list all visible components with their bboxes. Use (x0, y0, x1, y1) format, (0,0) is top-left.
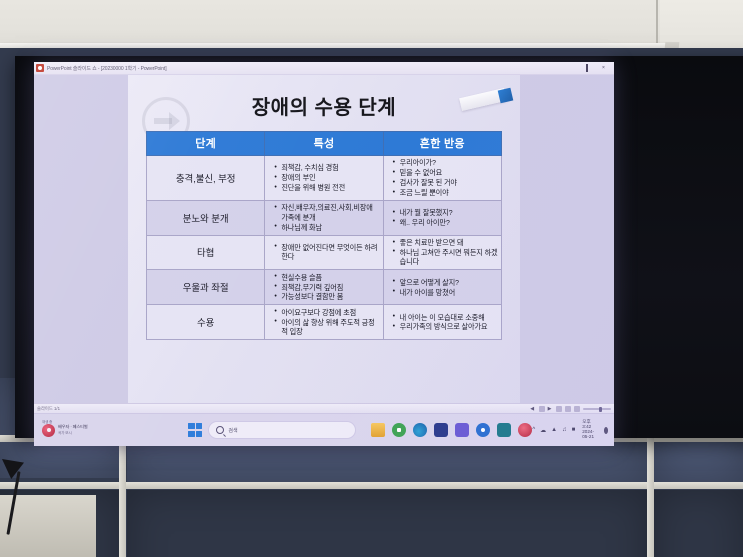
reactions-cell: 우리아이가? 믿을 수 없어요 검사가 잘못 된 거야 조금 느릴 뿐이야 (383, 156, 501, 201)
column-header-traits: 특성 (265, 132, 383, 156)
window-title: PowerPoint 슬라이드 쇼 - [20230000 1학기 - Powe… (47, 65, 167, 72)
windows-taskbar: 재생 중 배우자 · 페스티벌 곡가 모시 검색 (34, 413, 614, 446)
table-header-row: 단계 특성 흔한 반응 (147, 132, 502, 156)
window-titlebar[interactable]: PowerPoint 슬라이드 쇼 - [20230000 1학기 - Powe… (34, 62, 614, 75)
media-title: 배우자 · 페스티벌 (58, 424, 88, 430)
list-item: 내가 아이를 망쳤어 (395, 288, 498, 298)
table-row: 우울과 좌절 현실수용 슬픔 죄책감,무기력 깊어짐 가능성보다 결함만 봄 (147, 270, 502, 305)
list-item: 왜.. 우리 아이만? (395, 218, 498, 228)
stage-label: 수용 (147, 305, 265, 340)
stages-table: 단계 특성 흔한 반응 충격,불신, 부정 죄책감, 수치심 경험 (146, 131, 502, 340)
list-item: 좋은 치료만 받으면 돼 (395, 238, 498, 248)
album-art-icon (42, 424, 55, 437)
list-item: 가능성보다 결함만 봄 (276, 292, 379, 302)
search-icon (216, 426, 224, 434)
column-header-reaction: 흔한 반응 (383, 132, 501, 156)
list-item: 앞으로 어떻게 살지? (395, 278, 498, 288)
slide[interactable]: 장애의 수용 단계 단계 특성 흔한 반응 충격,불신, 부정 (128, 75, 520, 403)
cloud-icon[interactable]: ☁ (540, 427, 546, 434)
table-row: 충격,불신, 부정 죄책감, 수치심 경험 장애의 부인 진단을 위해 병원 전… (147, 156, 502, 201)
powerpoint-icon (36, 64, 44, 72)
powerpoint-window: PowerPoint 슬라이드 쇼 - [20230000 1학기 - Powe… (34, 62, 614, 414)
list-item: 장애의 부인 (276, 173, 379, 183)
list-item: 장애만 없어진다면 무엇이든 하려 한다 (276, 243, 379, 262)
traits-cell: 장애만 없어진다면 무엇이든 하려 한다 (265, 235, 383, 270)
statusbar-right-controls: ◀ ▶ (530, 406, 611, 412)
traits-cell: 현실수용 슬픔 죄책감,무기력 깊어짐 가능성보다 결함만 봄 (265, 270, 383, 305)
list-item: 아이요구보다 강점에 초점 (276, 308, 379, 318)
reactions-cell: 내가 뭘 잘못했지? 왜.. 우리 아이만? (383, 200, 501, 235)
taskbar-app-icons (371, 423, 532, 437)
stage-label: 충격,불신, 부정 (147, 156, 265, 201)
list-item: 아이의 삶 향상 위해 주도적 긍정적 입장 (276, 318, 379, 337)
list-item: 죄책감,무기력 깊어짐 (276, 283, 379, 293)
battery-icon[interactable]: ■ (572, 427, 576, 433)
reading-view-button[interactable] (565, 406, 571, 412)
slide-canvas-area: 장애의 수용 단계 단계 특성 흔한 반응 충격,불신, 부정 (34, 75, 614, 403)
screen-wire (656, 0, 658, 46)
chevron-up-icon[interactable]: ^ (532, 427, 535, 433)
wall-panel (654, 490, 743, 557)
traits-cell: 아이요구보다 강점에 초점 아이의 삶 향상 위해 주도적 긍정적 입장 (265, 305, 383, 340)
slideshow-view-button[interactable] (574, 406, 580, 412)
reactions-cell: 내 아이는 이 모습대로 소중해 우리가족의 방식으로 살아가요 (383, 305, 501, 340)
list-item: 죄책감, 수치심 경험 (276, 163, 379, 173)
search-placeholder: 검색 (228, 427, 237, 434)
slide-counter: 슬라이드 1/1 (37, 406, 60, 412)
stage-label: 우울과 좌절 (147, 270, 265, 305)
list-item: 현실수용 슬픔 (276, 273, 379, 283)
zoom-slider[interactable] (583, 408, 611, 410)
wall-panel (127, 441, 647, 483)
slide-title: 장애의 수용 단계 (128, 75, 520, 120)
system-tray: ^ ☁ ▲ ♫ ■ 오후 3:42 2024-05-21 (532, 420, 614, 439)
column-header-stage: 단계 (147, 132, 265, 156)
network-icon[interactable]: ▲ (551, 427, 557, 433)
ceiling (0, 0, 743, 48)
normal-view-button[interactable] (539, 406, 545, 412)
powerpoint-icon[interactable] (455, 423, 469, 437)
traits-cell: 자신,배우자,의료진,사회,비장애 가족에 분개 하나님께 화남 (265, 200, 383, 235)
media-subtitle: 곡가 모시 (58, 431, 88, 436)
maximize-button[interactable] (582, 64, 591, 72)
media-player-widget[interactable]: 재생 중 배우자 · 페스티벌 곡가 모시 (34, 424, 178, 437)
prev-slide-button[interactable]: ◀ (530, 406, 535, 412)
list-item: 우리가족의 방식으로 살아가요 (395, 322, 498, 332)
music-icon[interactable] (518, 423, 532, 437)
list-item: 하나님께 화남 (276, 223, 379, 233)
clock-date: 2024-05-21 (582, 430, 596, 440)
close-button[interactable]: × (599, 64, 608, 72)
list-item: 하나님 고쳐만 주시면 뭐든지 하겠습니다 (395, 248, 498, 267)
list-item: 내 아이는 이 모습대로 소중해 (395, 313, 498, 323)
table-row: 분노와 분개 자신,배우자,의료진,사회,비장애 가족에 분개 하나님께 화남 (147, 200, 502, 235)
stage-label: 타협 (147, 235, 265, 270)
table-row: 수용 아이요구보다 강점에 초점 아이의 삶 향상 위해 주도적 긍정적 입장 (147, 305, 502, 340)
list-item: 조금 느릴 뿐이야 (395, 188, 498, 198)
reactions-cell: 좋은 치료만 받으면 돼 하나님 고쳐만 주시면 뭐든지 하겠습니다 (383, 235, 501, 270)
chrome-icon[interactable] (392, 423, 406, 437)
classroom-photo-scene: PowerPoint 슬라이드 쇼 - [20230000 1학기 - Powe… (0, 0, 743, 557)
edge-icon[interactable] (413, 423, 427, 437)
list-item: 우리아이가? (395, 158, 498, 168)
reactions-cell: 앞으로 어떻게 살지? 내가 아이를 망쳤어 (383, 270, 501, 305)
list-item: 진단을 위해 병원 전전 (276, 183, 379, 193)
wall-frame (0, 482, 743, 489)
next-slide-button[interactable]: ▶ (548, 406, 553, 412)
teams-icon[interactable] (497, 423, 511, 437)
stage-label: 분노와 분개 (147, 200, 265, 235)
list-item: 내가 뭘 잘못했지? (395, 208, 498, 218)
media-caption: 재생 중 (42, 419, 52, 424)
hancom-icon[interactable] (434, 423, 448, 437)
volume-icon[interactable]: ♫ (562, 427, 567, 433)
slide-sorter-view-button[interactable] (556, 406, 562, 412)
table-row: 타협 장애만 없어진다면 무엇이든 하려 한다 좋은 치료만 받으면 돼 (147, 235, 502, 270)
projected-desktop: PowerPoint 슬라이드 쇼 - [20230000 1학기 - Powe… (34, 62, 614, 446)
clock[interactable]: 오후 3:42 2024-05-21 (580, 420, 596, 439)
window-controls: × (565, 64, 612, 72)
notifications-icon[interactable] (604, 427, 608, 434)
wall-panel (127, 490, 647, 557)
list-item: 자신,배우자,의료진,사회,비장애 가족에 분개 (276, 203, 379, 222)
target-app-icon[interactable] (476, 423, 490, 437)
taskbar-center: 검색 (188, 421, 532, 439)
file-explorer-icon[interactable] (371, 423, 385, 437)
list-item: 믿을 수 없어요 (395, 168, 498, 178)
start-button[interactable] (188, 423, 202, 437)
search-input[interactable]: 검색 (208, 421, 356, 439)
traits-cell: 죄책감, 수치심 경험 장애의 부인 진단을 위해 병원 전전 (265, 156, 383, 201)
list-item: 검사가 잘못 된 거야 (395, 178, 498, 188)
